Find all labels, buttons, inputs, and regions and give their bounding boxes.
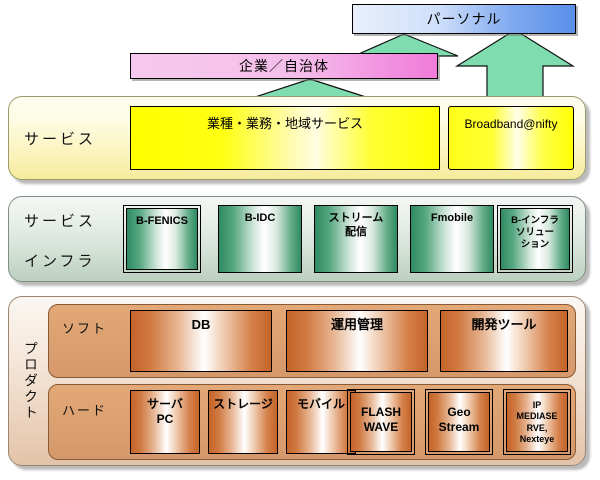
subsection-label-soft: ソフト: [62, 318, 107, 337]
tile-label-server-pc-1: サーバ: [147, 397, 183, 412]
tile-label-stream-haishin-2: 配信: [345, 226, 367, 240]
tile-label-server-pc-2: PC: [157, 412, 174, 427]
tile-label-b-fenics: B-FENICS: [136, 215, 188, 229]
tile-geo-stream[interactable]: Geo Stream: [428, 392, 490, 452]
tile-label-kaihatsu-tool: 開発ツール: [471, 317, 536, 333]
section-label-service-infra-text2: インフラ: [24, 250, 96, 271]
tile-label-b-infra-solution-3: ション: [521, 239, 550, 251]
tile-label-b-idc: B-IDC: [245, 212, 276, 226]
tile-label-storage: ストレージ: [213, 397, 273, 412]
section-label-service-infra-text1: サービス: [24, 210, 96, 231]
tile-label-geo-stream-1: Geo: [447, 405, 470, 420]
section-label-product: プロダクト: [14, 300, 48, 462]
arrow-service-to-personal-icon: [455, 28, 580, 106]
tile-b-infra-solution[interactable]: B-インフラ ソリュー ション: [500, 208, 570, 270]
tile-broadband-nifty[interactable]: Broadband@nifty: [448, 106, 574, 170]
tile-label-ip-media-serve-2: MEDIASE: [516, 411, 557, 422]
audience-box-personal[interactable]: パーソナル: [352, 4, 576, 34]
audience-label-personal: パーソナル: [427, 9, 502, 29]
tile-label-db: DB: [192, 317, 211, 333]
tile-stream-haishin[interactable]: ストリーム 配信: [314, 205, 398, 273]
tile-label-fmobile: Fmobile: [431, 212, 473, 226]
tile-label-broadband-nifty: Broadband@nifty: [465, 117, 558, 132]
tile-ip-media-serve[interactable]: IP MEDIASE RVE, Nexteye: [506, 392, 568, 452]
section-label-service-text: サービス: [24, 128, 96, 149]
tile-label-b-infra-solution-1: B-インフラ: [511, 215, 559, 227]
audience-label-corporate: 企業／自治体: [239, 56, 329, 76]
tile-label-gyoshu-gyomu-chiiki: 業種・業務・地域サービス: [207, 116, 363, 132]
tile-label-mobile: モバイル: [297, 397, 345, 412]
subsection-label-hard-text: ハード: [62, 403, 107, 418]
tile-kaihatsu-tool[interactable]: 開発ツール: [440, 310, 568, 372]
diagram-canvas: パーソナル 企業／自治体 サービス 業種・業務・地域サービス Broadband…: [0, 0, 600, 480]
tile-flash-wave[interactable]: FLASH WAVE: [350, 392, 412, 452]
tile-mobile[interactable]: モバイル: [286, 390, 356, 454]
tile-fmobile[interactable]: Fmobile: [410, 205, 494, 273]
tile-label-ip-media-serve-1: IP: [533, 400, 542, 411]
subsection-label-soft-text: ソフト: [62, 321, 107, 336]
section-label-service-infra: サービス インフラ: [24, 200, 124, 280]
tile-storage[interactable]: ストレージ: [208, 390, 278, 454]
subsection-label-hard: ハード: [62, 400, 107, 419]
tile-label-unyo-kanri: 運用管理: [331, 317, 383, 333]
tile-label-ip-media-serve-4: Nexteye: [520, 434, 555, 445]
tile-label-flash-wave-1: FLASH: [361, 405, 401, 420]
tile-b-fenics[interactable]: B-FENICS: [126, 208, 198, 270]
tile-label-stream-haishin-1: ストリーム: [329, 212, 384, 226]
section-label-service: サービス: [24, 96, 124, 180]
tile-server-pc[interactable]: サーバ PC: [130, 390, 200, 454]
tile-b-idc[interactable]: B-IDC: [218, 205, 302, 273]
tile-label-ip-media-serve-3: RVE,: [527, 423, 548, 434]
tile-unyo-kanri[interactable]: 運用管理: [286, 310, 428, 372]
tile-label-geo-stream-2: Stream: [439, 420, 480, 435]
audience-box-corporate[interactable]: 企業／自治体: [130, 53, 438, 79]
tile-label-b-infra-solution-2: ソリュー: [516, 227, 554, 239]
tile-gyoshu-gyomu-chiiki[interactable]: 業種・業務・地域サービス: [130, 106, 440, 170]
tile-db[interactable]: DB: [130, 310, 272, 372]
tile-label-flash-wave-2: WAVE: [364, 420, 398, 435]
section-label-product-text: プロダクト: [21, 341, 41, 421]
